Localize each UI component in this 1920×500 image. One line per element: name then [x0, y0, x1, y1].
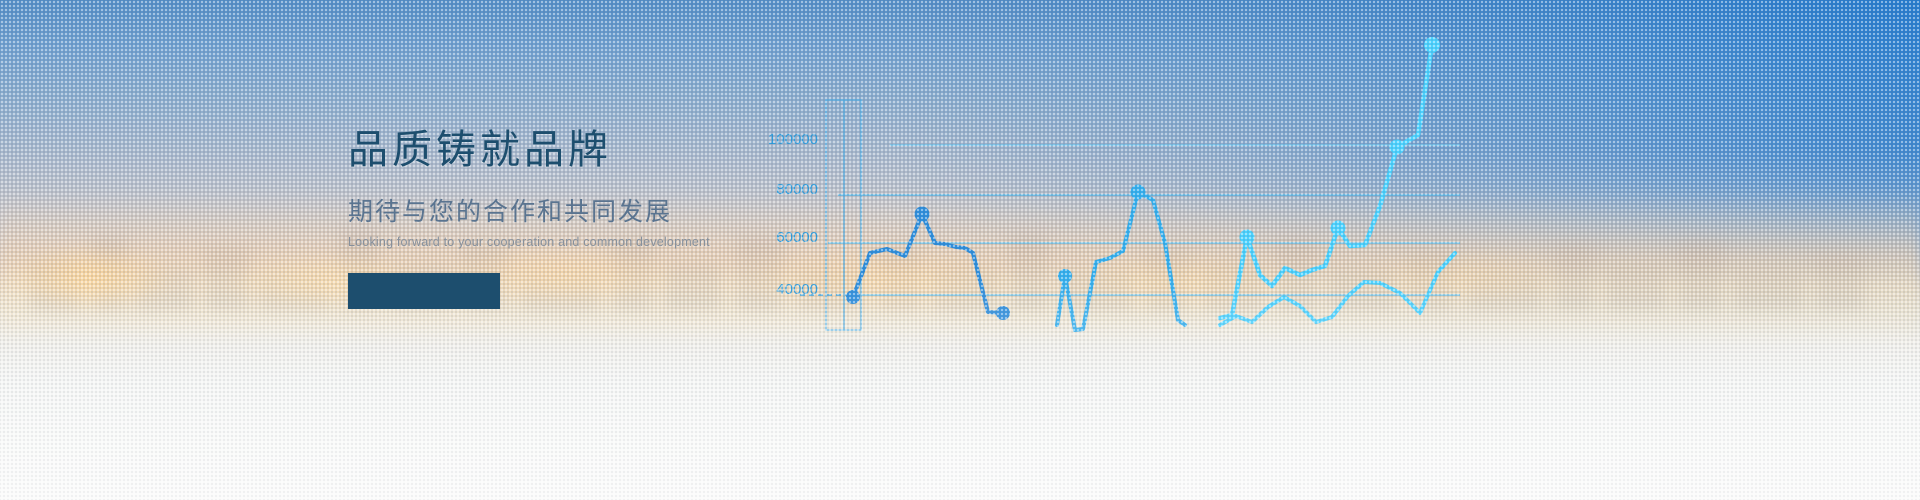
hero-banner: 100000 80000 60000 40000	[0, 0, 1920, 500]
banner-headline: 品质铸就品牌	[348, 126, 768, 174]
learn-more-button[interactable]	[348, 273, 500, 309]
background-bottom-fade	[0, 0, 1920, 500]
banner-subheadline-english: Looking forward to your cooperation and …	[348, 233, 768, 251]
banner-subheadline: 期待与您的合作和共同发展	[348, 196, 768, 228]
banner-copy-block: 品质铸就品牌 期待与您的合作和共同发展 Looking forward to y…	[348, 126, 768, 309]
